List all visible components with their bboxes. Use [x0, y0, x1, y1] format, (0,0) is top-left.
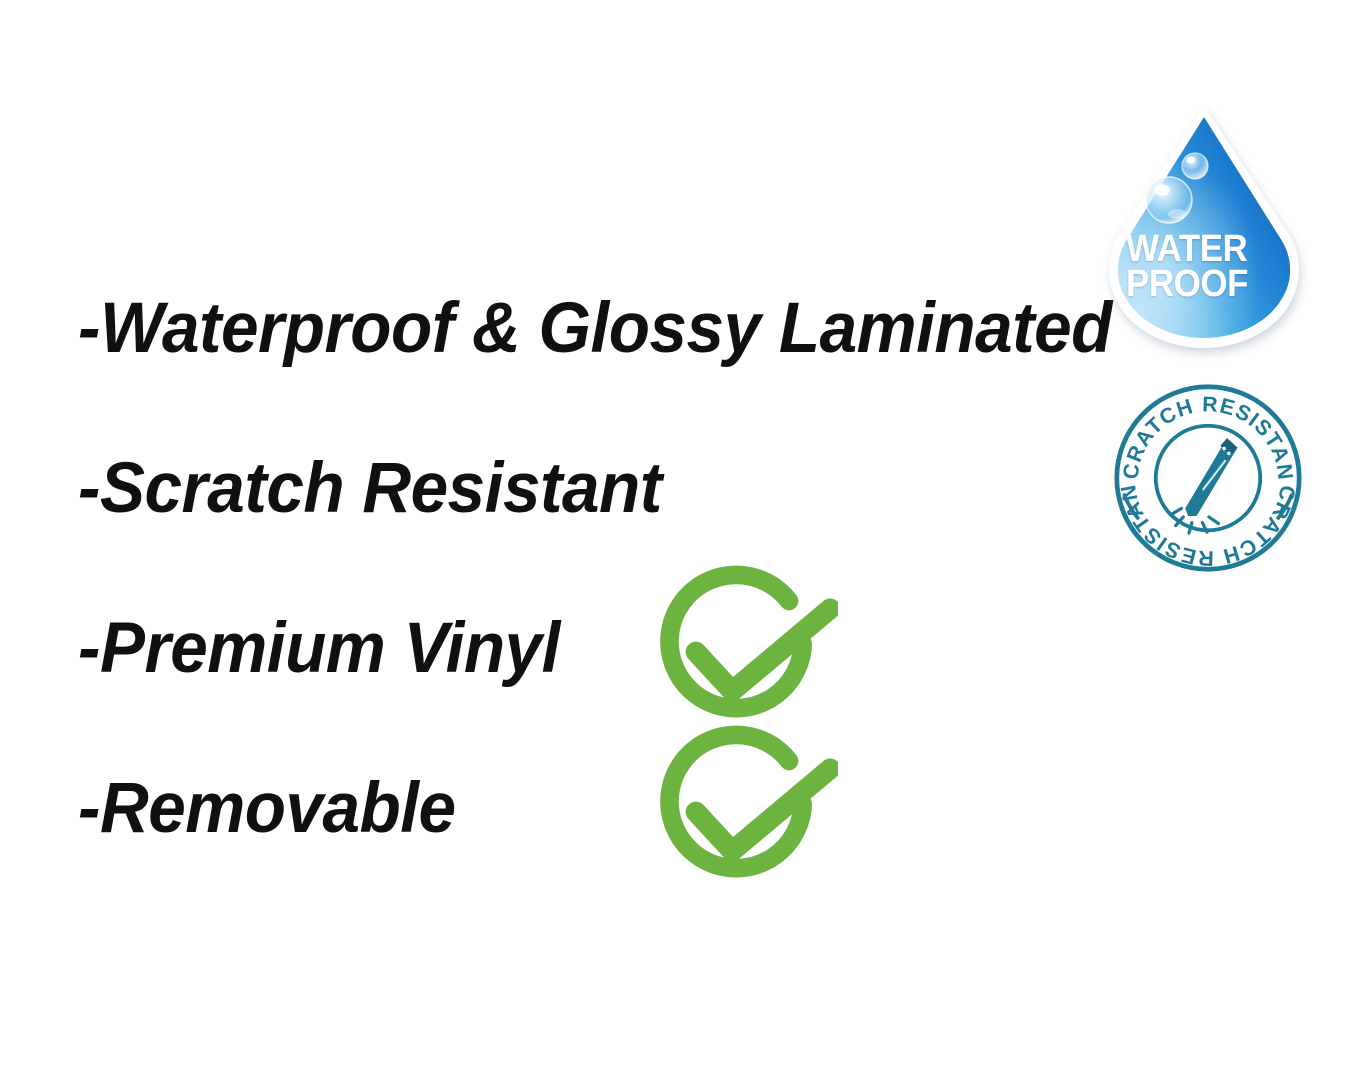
knife-rivet-2 — [1227, 451, 1231, 455]
knife-stamp-icon: SCRATCH RESISTANT SCRATCH RESISTANT — [1113, 383, 1303, 573]
waterproof-label-line2: PROOF — [1126, 267, 1273, 302]
list-item: -Waterproof & Glossy Laminated — [78, 248, 1108, 408]
bubble-large-lowlight — [1168, 209, 1186, 219]
waterproof-badge: WATER PROOF — [1107, 104, 1301, 362]
feature-label-scratch-resistant: -Scratch Resistant — [78, 453, 662, 524]
waterproof-label-line1: WATER — [1126, 232, 1273, 267]
knife-rivet-1 — [1222, 447, 1226, 451]
page-canvas: -Waterproof & Glossy Laminated -Scratch … — [0, 0, 1359, 1080]
scratch-resistant-badge: SCRATCH RESISTANT SCRATCH RESISTANT — [1113, 383, 1303, 573]
circle-check-icon-removable — [642, 710, 838, 906]
bubble-large-highlight — [1154, 184, 1170, 195]
bubble-small-highlight — [1186, 157, 1195, 164]
feature-label-removable: -Removable — [78, 773, 456, 844]
waterproof-label: WATER PROOF — [1126, 232, 1273, 303]
circle-check-icon — [642, 710, 838, 906]
stamp-text-top: SCRATCH RESISTANT — [1113, 383, 1298, 482]
feature-label-waterproof: -Waterproof & Glossy Laminated — [78, 293, 1112, 364]
list-item: -Premium Vinyl — [78, 568, 1108, 728]
list-item: -Scratch Resistant — [78, 408, 1108, 568]
knife-icon — [1185, 438, 1237, 516]
feature-label-premium-vinyl: -Premium Vinyl — [78, 613, 560, 684]
bubble-small-icon — [1182, 153, 1208, 179]
list-item: -Removable — [78, 728, 1108, 888]
feature-list: -Waterproof & Glossy Laminated -Scratch … — [78, 248, 1108, 888]
